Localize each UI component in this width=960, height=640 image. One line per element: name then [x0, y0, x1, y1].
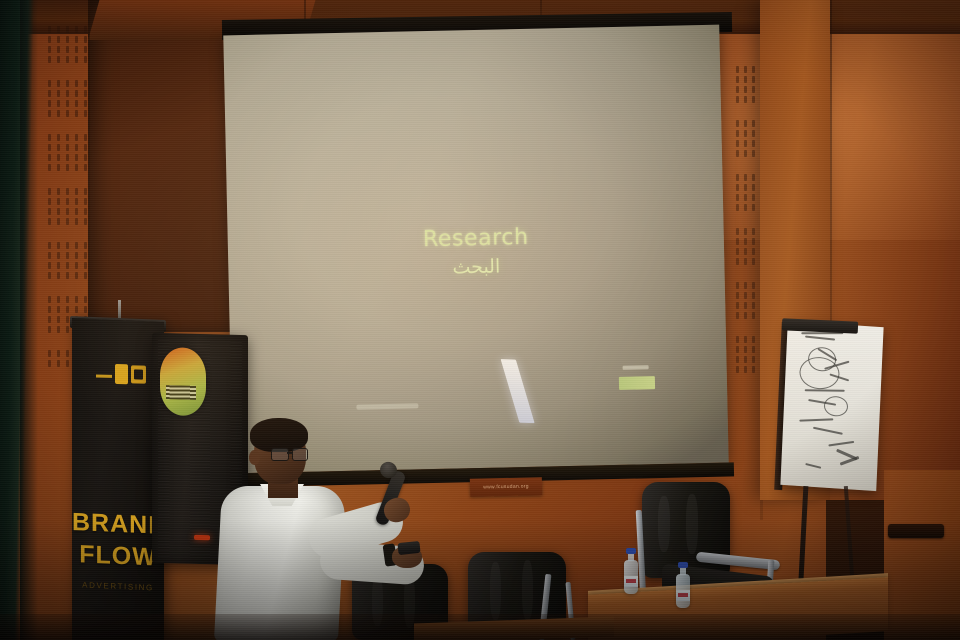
photo-vignette [0, 0, 960, 640]
conference-hall-photo: Research البحث www.fcusudan.org BRAND FL… [0, 0, 960, 640]
